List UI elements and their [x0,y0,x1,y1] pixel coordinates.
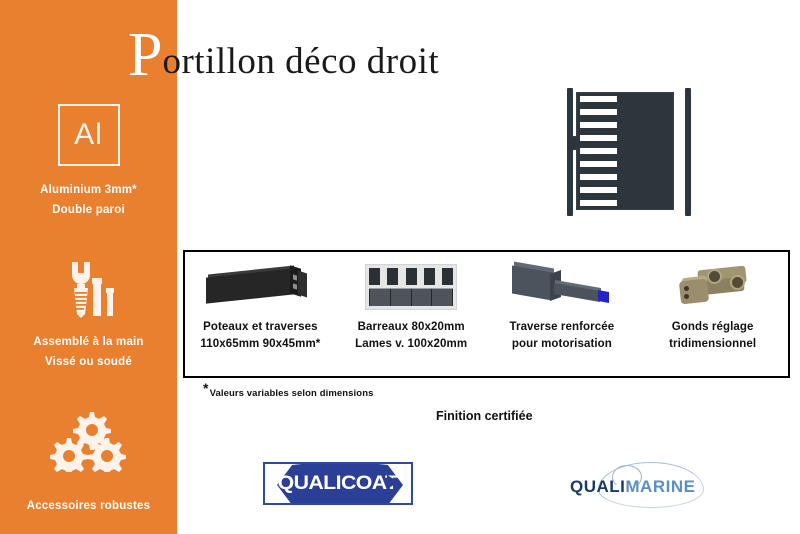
qualicoat-wordmark: QUALICOAT [278,473,398,495]
sidebar-item-accessories-line1: Accessoires robustes [0,496,177,516]
aluminium-post-profile-icon [206,259,314,315]
gears-icon [0,408,177,474]
feature-poteaux-line1: Poteaux et traverses [203,319,318,336]
qualimarine-wordmark-marine: MARINE [625,477,695,496]
footnote-text: Valeurs variables selon dimensions [210,388,374,399]
feature-barreaux: Barreaux 80x20mm Lames v. 100x20mm [336,252,487,376]
reinforced-crossbar-motor-icon [510,259,614,315]
aluminium-al-square-icon: Al [58,104,120,166]
page-title-capital: P [128,24,162,86]
feature-traverse: Traverse renforcée pour motorisation [487,252,638,376]
bars-and-slats-icon [365,259,457,315]
sidebar-item-aluminium-line1: Aluminium 3mm* [0,180,177,200]
sidebar-item-assembly-line2: Vissé ou soudé [0,352,177,372]
footnote: *Valeurs variables selon dimensions [203,380,373,399]
qualimarine-wordmark-quali: QUALI [570,477,625,496]
feature-traverse-line2: pour motorisation [512,336,612,353]
feature-gonds-line1: Gonds réglage [672,319,754,336]
sidebar-item-aluminium-line2: Double paroi [0,200,177,220]
gate-handle-icon [572,136,577,150]
features-box: Poteaux et traverses 110x65mm 90x45mm* B… [183,250,790,378]
gate-post-left [567,88,573,216]
feature-gonds-line2: tridimensionnel [669,336,756,353]
feature-poteaux: Poteaux et traverses 110x65mm 90x45mm* [185,252,336,376]
finition-certifiee-label: Finition certifiée [436,409,533,423]
feature-barreaux-line2: Lames v. 100x20mm [355,336,467,353]
feature-barreaux-line1: Barreaux 80x20mm [358,319,465,336]
gate-post-right [685,88,691,216]
sidebar-item-aluminium: Al Aluminium 3mm* Double paroi [0,104,177,220]
al-symbol-text: Al [74,120,103,150]
footnote-star: * [203,380,209,396]
feature-gonds: Gonds réglage tridimensionnel [637,252,788,376]
adjustable-hinge-icon [678,259,748,315]
feature-traverse-line1: Traverse renforcée [510,319,615,336]
product-image-gate [567,88,691,216]
page-root: Al Aluminium 3mm* Double paroi [0,0,800,534]
qualicoat-logo: QUALICOAT [263,462,413,505]
sidebar-item-accessories: Accessoires robustes [0,408,177,516]
sidebar-item-assembly: Assemblé à la main Vissé ou soudé [0,258,177,372]
qualimarine-wordmark: QUALIMARINE [570,477,695,497]
page-title: Portillon déco droit [128,22,439,86]
sidebar-item-assembly-line1: Assemblé à la main [0,332,177,352]
page-title-rest: ortillon déco droit [162,43,439,80]
feature-poteaux-line2: 110x65mm 90x45mm* [200,336,320,353]
gate-slats [580,96,617,206]
wrench-and-screws-icon [0,258,177,320]
qualimarine-logo: QUALIMARINE [562,466,722,508]
qualicoat-arrow-icon [387,475,399,489]
